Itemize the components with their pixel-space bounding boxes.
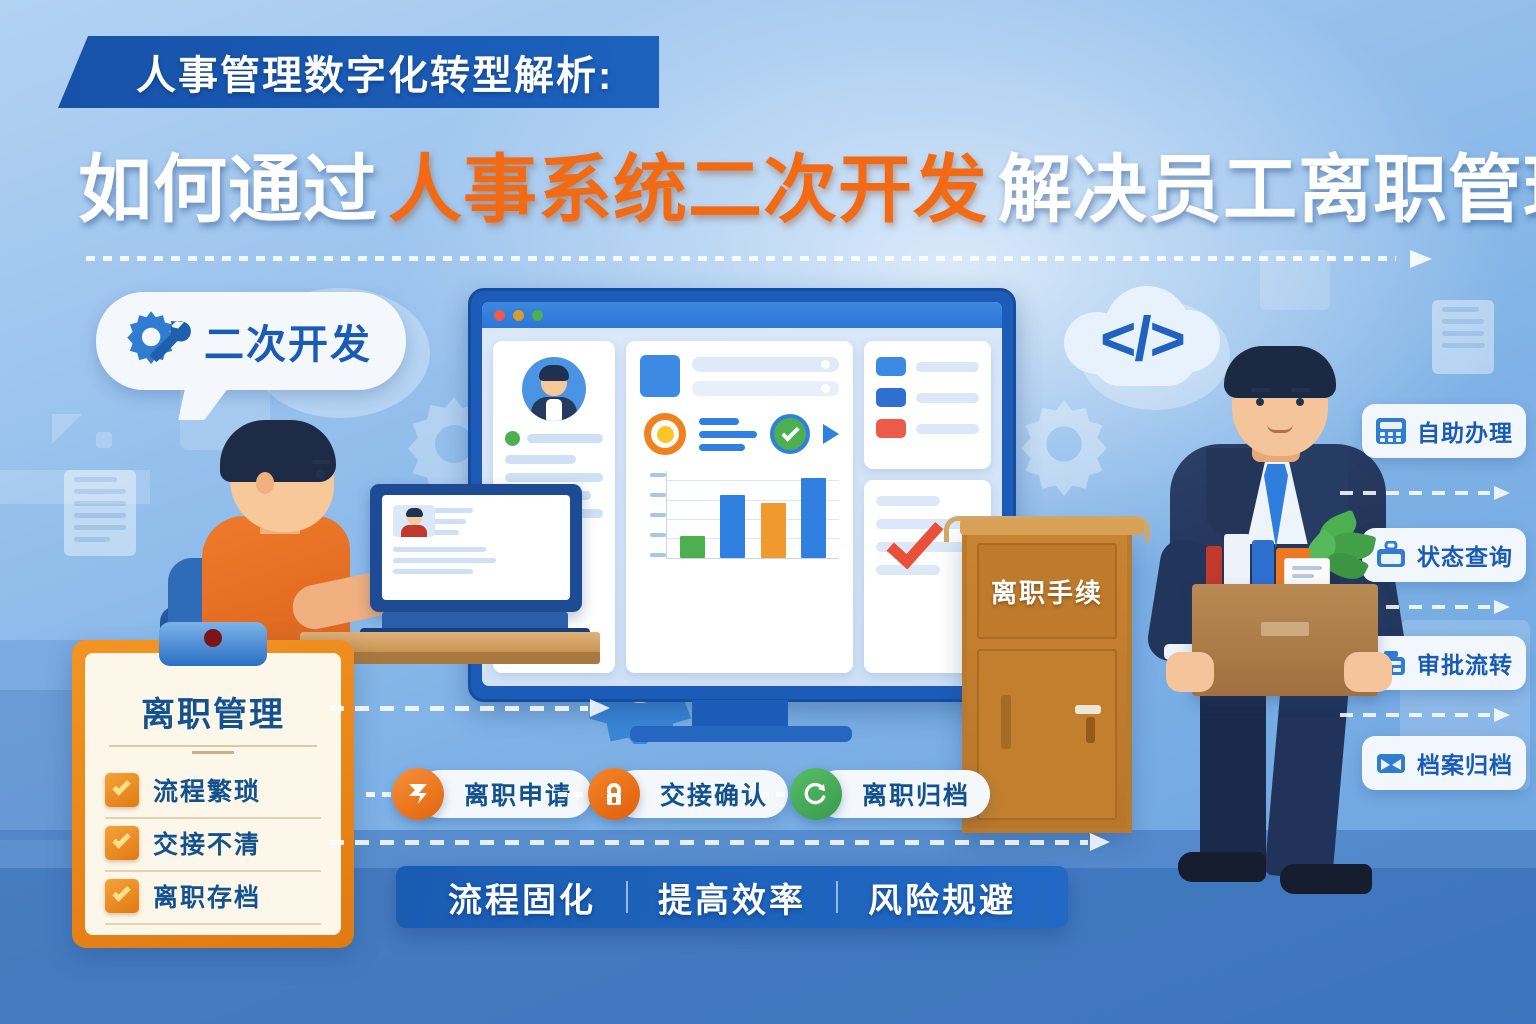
play-icon: [823, 424, 839, 444]
bar-chart: [640, 471, 839, 559]
process-icon-1: [392, 768, 444, 820]
bg-band: [0, 470, 150, 504]
badge-arrow: [1340, 488, 1510, 497]
benefit-1: 流程固化: [448, 873, 596, 922]
calculator-icon: [1375, 417, 1407, 445]
briefcase-icon: [1375, 541, 1407, 569]
title-highlight: 人事系统二次开发: [388, 153, 988, 227]
dashboard-pane: [626, 341, 853, 673]
checklist-label: 交接不清: [153, 825, 261, 861]
window-maximize-dot[interactable]: [532, 310, 543, 321]
process-icon-2: [588, 768, 640, 820]
benefit-2: 提高效率: [658, 873, 806, 922]
orange-ring-icon: [644, 413, 686, 455]
check-icon: [105, 773, 139, 807]
monitor-base: [630, 726, 852, 742]
side-badge-2[interactable]: 状态查询: [1362, 528, 1526, 582]
bg-document: [1432, 300, 1494, 374]
side-badge-label: 自助办理: [1417, 414, 1513, 448]
exit-issues-clipboard: 离职管理 流程繁琐 交接不清 离职存档: [72, 640, 354, 948]
badge-arrow: [1340, 710, 1510, 719]
green-check-icon: [770, 414, 810, 454]
process-dash: [366, 792, 392, 797]
checklist-item[interactable]: 离职存档: [105, 872, 321, 925]
infographic-canvas: 人事管理数字化转型解析: 如何通过 人事系统二次开发 解决员工离职管理难题 二次…: [0, 0, 1536, 1024]
archive-icon: [1375, 749, 1407, 777]
chart-bar: [761, 503, 786, 558]
window-titlebar: [482, 302, 1002, 328]
laptop: [360, 484, 590, 644]
clipboard-title: 离职管理: [105, 687, 321, 736]
bubble-label: 二次开发: [204, 312, 372, 370]
checklist-label: 流程繁琐: [153, 772, 261, 808]
checklist-item[interactable]: 交接不清: [105, 819, 321, 872]
chart-bar: [720, 495, 745, 558]
kicker-text: 人事管理数字化转型解析:: [136, 43, 613, 101]
title-part-2: 解决员工离职管理难题: [998, 153, 1536, 227]
module-tile: [640, 355, 680, 397]
box-contents: [1206, 530, 1362, 592]
process-label: 离职申请: [464, 776, 572, 812]
flow-arrow-clipboard-to-gear: [330, 704, 610, 712]
kicker-banner: 人事管理数字化转型解析:: [58, 36, 659, 108]
clipboard-clamp: [159, 622, 267, 666]
status-dot: [505, 431, 520, 446]
side-badge-label: 状态查询: [1417, 538, 1513, 572]
list-item: [876, 357, 979, 376]
side-badge-4[interactable]: 档案归档: [1362, 736, 1526, 790]
check-icon: [105, 879, 139, 913]
flow-arrow-to-door: [330, 838, 1110, 846]
window-close-dot[interactable]: [494, 310, 505, 321]
list-item: [876, 388, 979, 407]
chart-bar: [801, 478, 826, 558]
list-item: [876, 419, 979, 438]
bg-gear-icon: [1012, 392, 1116, 496]
window-minimize-dot[interactable]: [513, 310, 524, 321]
bg-triangle: [52, 414, 82, 444]
employee-avatar: [522, 357, 586, 421]
side-badge-1[interactable]: 自助办理: [1362, 404, 1526, 458]
side-badge-label: 档案归档: [1417, 746, 1513, 780]
title-part-1: 如何通过: [78, 153, 378, 227]
gear-wrench-icon: [126, 306, 192, 377]
page-title: 如何通过 人事系统二次开发 解决员工离职管理难题: [78, 138, 1478, 242]
process-label: 离职归档: [862, 776, 970, 812]
benefit-3: 风险规避: [868, 873, 1016, 922]
status-list-pane: [864, 341, 991, 469]
check-icon: [105, 826, 139, 860]
process-label: 交接确认: [660, 776, 768, 812]
checklist-item[interactable]: 流程繁琐: [105, 766, 321, 819]
process-icon-3: [790, 768, 842, 820]
bg-square: [96, 432, 112, 448]
divider: [836, 881, 838, 913]
checklist-label: 离职存档: [153, 878, 261, 914]
process-dash: [558, 792, 584, 797]
door-sign-label: 离职手续: [991, 573, 1103, 610]
chart-bar: [680, 536, 705, 558]
laptop-screen: [382, 495, 570, 600]
benefits-banner: 流程固化 提高效率 风险规避: [396, 866, 1068, 928]
divider: [626, 881, 628, 913]
title-underline-arrow: [86, 250, 1432, 268]
speech-bubble: 二次开发: [96, 292, 406, 390]
side-badge-label: 审批流转: [1417, 646, 1513, 680]
process-dash: [760, 792, 786, 797]
